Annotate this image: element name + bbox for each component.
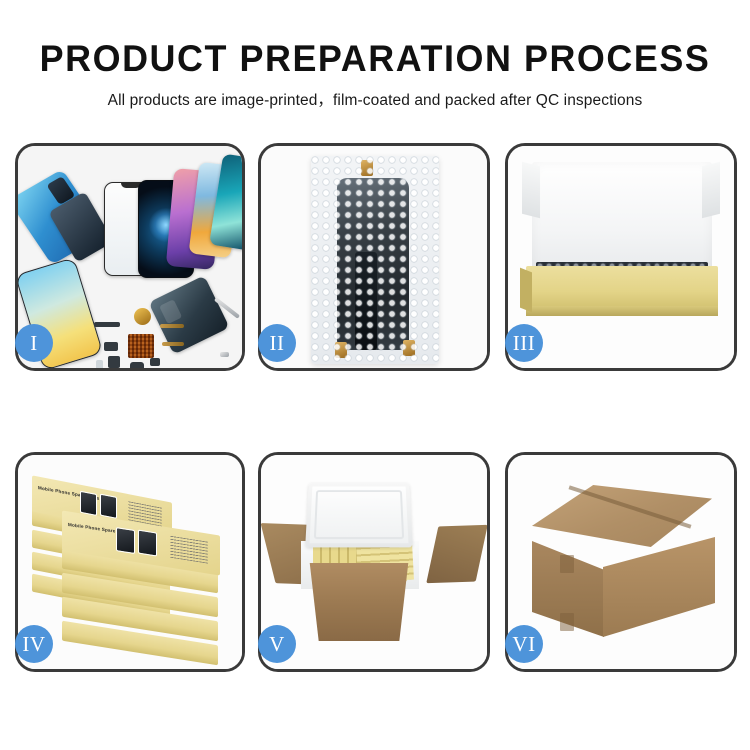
lid-flap-right bbox=[702, 162, 720, 218]
carton-top-face bbox=[532, 485, 712, 547]
carton-flap-right bbox=[426, 525, 487, 583]
process-step-5[interactable]: V bbox=[258, 452, 490, 672]
process-step-3[interactable]: III bbox=[505, 143, 737, 371]
carton-tape-upper bbox=[560, 555, 574, 573]
part-screws bbox=[220, 352, 229, 357]
foam-lid-panel bbox=[532, 162, 712, 274]
step-badge-5: V bbox=[258, 625, 296, 663]
box-spec-text-front bbox=[170, 536, 208, 564]
wrapped-flex-cable bbox=[355, 252, 377, 350]
step-3-image bbox=[508, 146, 734, 368]
part-flex-cable-a bbox=[160, 324, 184, 328]
carton-right-face bbox=[603, 537, 715, 637]
lid-flap-left bbox=[522, 162, 540, 218]
part-chip bbox=[150, 358, 160, 366]
gold-tab-right bbox=[403, 340, 415, 356]
part-speaker-gold bbox=[134, 308, 151, 325]
styrofoam-lid bbox=[305, 483, 413, 548]
box-window-front-b bbox=[138, 530, 157, 557]
box-front-edge bbox=[526, 306, 718, 316]
box-window-front-a bbox=[116, 527, 135, 554]
phone-parts-scene bbox=[18, 146, 242, 368]
process-step-4[interactable]: Mobile Phone Spare Parts Mobile Phone Sp… bbox=[15, 452, 245, 672]
inner-box-scene bbox=[508, 146, 734, 368]
bubble-wrap-bag bbox=[311, 156, 439, 364]
step-badge-1: I bbox=[15, 324, 53, 362]
step-badge-6: VI bbox=[505, 625, 543, 663]
step-2-image bbox=[261, 146, 487, 368]
part-strip bbox=[94, 322, 120, 327]
step-badge-4: IV bbox=[15, 625, 53, 663]
gold-tab-left bbox=[335, 342, 347, 358]
part-connector-b bbox=[108, 356, 120, 368]
box-window-rear-a bbox=[80, 491, 97, 516]
part-connector-a bbox=[104, 342, 118, 351]
part-flex-cable-b bbox=[162, 342, 184, 346]
box-side-left bbox=[520, 268, 532, 313]
part-camera-module bbox=[130, 362, 144, 368]
box-window-rear-b bbox=[100, 494, 117, 519]
step-badge-2: II bbox=[258, 324, 296, 362]
process-grid: I II bbox=[0, 0, 750, 750]
carton-tape-lower bbox=[560, 613, 574, 631]
phone-back-housing bbox=[148, 275, 229, 354]
step-badge-3: III bbox=[505, 324, 543, 362]
gold-tab-top bbox=[361, 160, 373, 176]
bubble-wrap-scene bbox=[261, 146, 487, 368]
part-copper-mesh bbox=[128, 334, 154, 358]
carton-body bbox=[303, 563, 415, 641]
part-button bbox=[96, 360, 103, 368]
process-step-1[interactable]: I bbox=[15, 143, 245, 371]
process-step-6[interactable]: VI bbox=[505, 452, 737, 672]
process-step-2[interactable]: II bbox=[258, 143, 490, 371]
step-1-image bbox=[18, 146, 242, 368]
